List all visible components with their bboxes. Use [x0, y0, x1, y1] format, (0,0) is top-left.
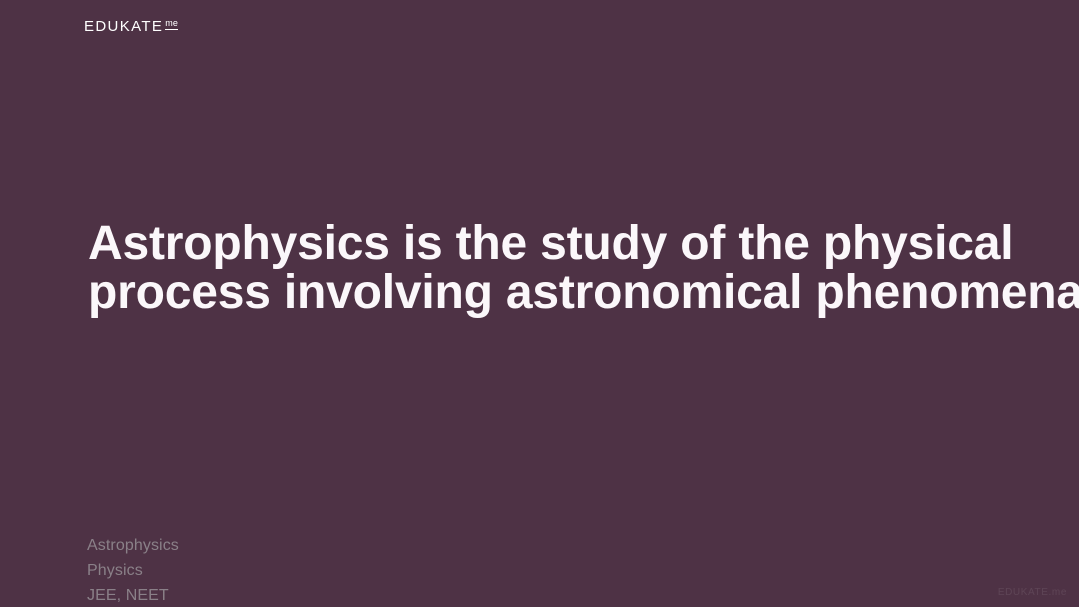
headline-line-2: process involving astronomical phenomena… [88, 268, 1018, 317]
brand-logo-superscript: me [165, 19, 178, 30]
topic-tag-exams: JEE, NEET [87, 583, 179, 607]
brand-logo[interactable]: EDUKATE me [84, 18, 178, 36]
topic-tag-discipline: Physics [87, 558, 179, 583]
headline-line-1: Astrophysics is the study of the physica… [88, 219, 1018, 268]
slide-canvas: EDUKATE me Astrophysics is the study of … [0, 0, 1079, 607]
page-title: Astrophysics is the study of the physica… [88, 219, 1018, 317]
topic-tag-subject: Astrophysics [87, 533, 179, 558]
topic-tag-list: Astrophysics Physics JEE, NEET [87, 533, 179, 607]
brand-logo-wordmark: EDUKATE [84, 18, 163, 36]
corner-watermark: EDUKATE.me [998, 587, 1067, 599]
